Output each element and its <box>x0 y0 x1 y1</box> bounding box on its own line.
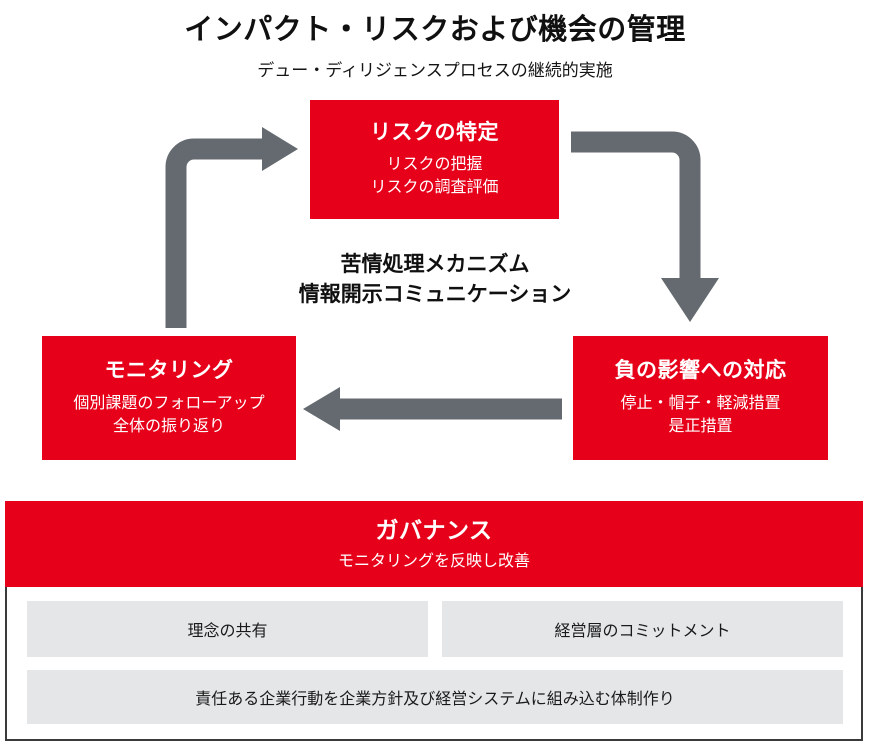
cycle-box-identify-lines: リスクの把握 リスクの調査評価 <box>370 153 498 198</box>
governance-pillar-shared-philosophy[interactable]: 理念の共有 <box>27 601 428 657</box>
governance-title: ガバナンス <box>375 519 492 544</box>
governance-pillar-management-commitment[interactable]: 経営層のコミットメント <box>442 601 843 657</box>
center-caption-line-1: 苦情処理メカニズム <box>215 249 655 279</box>
governance-pillar-embedding-system[interactable]: 責任ある企業行動を企業方針及び経営システムに組み込む体制作り <box>27 670 843 724</box>
page-subtitle: デュー・ディリジェンスプロセスの継続的実施 <box>0 56 870 81</box>
cycle-box-identify[interactable]: リスクの特定 リスクの把握 リスクの調査評価 <box>310 100 559 219</box>
governance-banner: ガバナンス モニタリングを反映し改善 <box>5 501 863 587</box>
cycle-box-response-lines: 停止・帽子・軽減措置 是正措置 <box>620 392 780 437</box>
cycle-box-identify-title: リスクの特定 <box>370 121 499 144</box>
center-caption: 苦情処理メカニズム 情報開示コミュニケーション <box>215 249 655 310</box>
cycle-box-response[interactable]: 負の影響への対応 停止・帽子・軽減措置 是正措置 <box>573 336 828 460</box>
cycle-box-monitoring-line-2: 全体の振り返り <box>73 415 264 438</box>
governance-pillar-row-top: 理念の共有 経営層のコミットメント <box>27 601 843 657</box>
cycle-box-identify-line-2: リスクの調査評価 <box>370 176 498 199</box>
cycle-box-monitoring-title: モニタリング <box>105 359 234 382</box>
cycle-box-response-line-2: 是正措置 <box>620 415 780 438</box>
governance-subtitle: モニタリングを反映し改善 <box>338 552 530 570</box>
arrow-response-to-monitoring <box>303 387 562 431</box>
cycle-box-monitoring[interactable]: モニタリング 個別課題のフォローアップ 全体の振り返り <box>42 336 296 460</box>
center-caption-line-2: 情報開示コミュニケーション <box>215 279 655 309</box>
cycle-box-monitoring-line-1: 個別課題のフォローアップ <box>73 392 264 415</box>
page-title: インパクト・リスクおよび機会の管理 <box>0 6 870 48</box>
cycle-box-monitoring-lines: 個別課題のフォローアップ 全体の振り返り <box>73 392 264 437</box>
cycle-box-identify-line-1: リスクの把握 <box>370 153 498 176</box>
governance-body: 理念の共有 経営層のコミットメント 責任ある企業行動を企業方針及び経営システムに… <box>5 587 863 741</box>
cycle-box-response-line-1: 停止・帽子・軽減措置 <box>620 392 780 415</box>
governance-section: ガバナンス モニタリングを反映し改善 理念の共有 経営層のコミットメント 責任あ… <box>5 501 863 741</box>
governance-pillar-row-bottom: 責任ある企業行動を企業方針及び経営システムに組み込む体制作り <box>27 670 843 724</box>
cycle-box-response-title: 負の影響への対応 <box>615 359 787 382</box>
diagram-canvas: インパクト・リスクおよび機会の管理 デュー・ディリジェンスプロセスの継続的実施 … <box>0 0 870 751</box>
